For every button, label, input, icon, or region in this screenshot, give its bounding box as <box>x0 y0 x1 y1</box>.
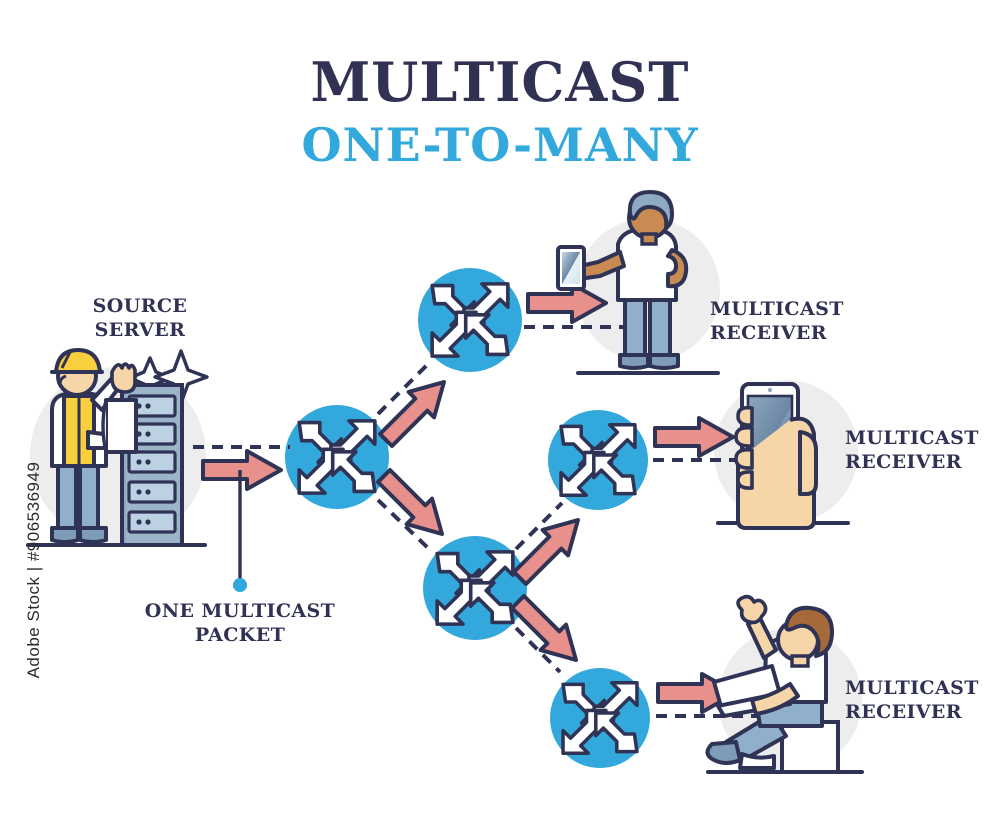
label-receiver-3-line1: MULTICAST <box>845 677 1000 701</box>
diagram-canvas: MULTICAST ONE-TO-MANY SOURCE SERVER ONE … <box>0 0 1000 833</box>
label-source-server: SOURCE SERVER <box>30 295 250 343</box>
label-multicast-receiver-2: MULTICAST RECEIVER <box>845 427 1000 475</box>
label-source-server-line2: SERVER <box>30 319 250 343</box>
arrow-router4-to-router3 <box>507 507 590 590</box>
label-multicast-receiver-3: MULTICAST RECEIVER <box>845 677 1000 725</box>
label-receiver-1-line1: MULTICAST <box>710 298 950 322</box>
arrow-router1-to-router2 <box>373 369 456 452</box>
label-one-multicast-packet: ONE MULTICAST PACKET <box>130 600 350 648</box>
label-packet-line2: PACKET <box>130 624 350 648</box>
router-node-5[interactable] <box>550 668 650 768</box>
label-receiver-2-line2: RECEIVER <box>845 451 1000 475</box>
router-node-2[interactable] <box>418 268 522 372</box>
arrow-source-to-router1 <box>203 451 281 489</box>
label-packet-line1: ONE MULTICAST <box>130 600 350 624</box>
watermark-attribution: Adobe Stock | #906536949 <box>24 440 44 700</box>
page-title-main: MULTICAST <box>0 50 1000 114</box>
label-multicast-receiver-1: MULTICAST RECEIVER <box>710 298 950 346</box>
page-title-sub: ONE-TO-MANY <box>0 118 1000 172</box>
packet-callout-dot <box>233 578 247 592</box>
router-node-1[interactable] <box>285 405 389 509</box>
router-node-4[interactable] <box>423 536 527 640</box>
label-receiver-3-line2: RECEIVER <box>845 701 1000 725</box>
label-source-server-line1: SOURCE <box>30 295 250 319</box>
label-receiver-2-line1: MULTICAST <box>845 427 1000 451</box>
router-node-3[interactable] <box>548 410 648 510</box>
label-receiver-1-line2: RECEIVER <box>710 322 950 346</box>
